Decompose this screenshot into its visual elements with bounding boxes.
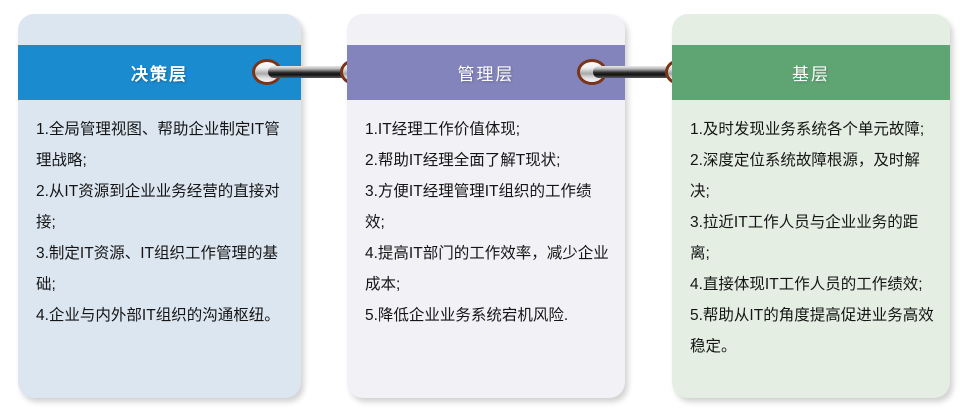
- list-item: 3.拉近IT工作人员与企业业务的距离;: [690, 207, 936, 269]
- list-item: 4.企业与内外部IT组织的沟通枢纽。: [36, 300, 287, 331]
- list-item: 4.直接体现IT工作人员的工作绩效;: [690, 269, 936, 300]
- card-management-layer-title: 管理层: [458, 60, 515, 85]
- list-item: 1.IT经理工作价值体现;: [365, 114, 611, 145]
- diagram-canvas: 决策层 1.全局管理视图、帮助企业制定IT管理战略; 2.从IT资源到企业业务经…: [0, 0, 960, 416]
- list-item: 5.降低企业业务系统宕机风险.: [365, 300, 611, 331]
- list-item: 2.帮助IT经理全面了解T现状;: [365, 145, 611, 176]
- card-base-layer[interactable]: 基层 1.及时发现业务系统各个单元故障; 2.深度定位系统故障根源，及时解决; …: [672, 14, 950, 398]
- list-item: 2.深度定位系统故障根源，及时解决;: [690, 145, 936, 207]
- list-item: 3.制定IT资源、IT组织工作管理的基础;: [36, 238, 287, 300]
- card-base-layer-body: 1.及时发现业务系统各个单元故障; 2.深度定位系统故障根源，及时解决; 3.拉…: [672, 100, 950, 398]
- card-management-layer-body: 1.IT经理工作价值体现; 2.帮助IT经理全面了解T现状; 3.方便IT经理管…: [347, 100, 625, 398]
- list-item: 5.帮助从IT的角度提高促进业务高效稳定。: [690, 300, 936, 362]
- list-item: 3.方便IT经理管理IT组织的工作绩效;: [365, 176, 611, 238]
- card-decision-layer-body: 1.全局管理视图、帮助企业制定IT管理战略; 2.从IT资源到企业业务经营的直接…: [18, 100, 301, 398]
- card-base-layer-title: 基层: [792, 60, 830, 85]
- card-decision-layer-title: 决策层: [131, 60, 188, 85]
- list-item: 4.提高IT部门的工作效率，减少企业成本;: [365, 238, 611, 300]
- list-item: 1.及时发现业务系统各个单元故障;: [690, 114, 936, 145]
- list-item: 2.从IT资源到企业业务经营的直接对接;: [36, 176, 287, 238]
- list-item: 1.全局管理视图、帮助企业制定IT管理战略;: [36, 114, 287, 176]
- card-base-layer-header: 基层: [672, 45, 950, 100]
